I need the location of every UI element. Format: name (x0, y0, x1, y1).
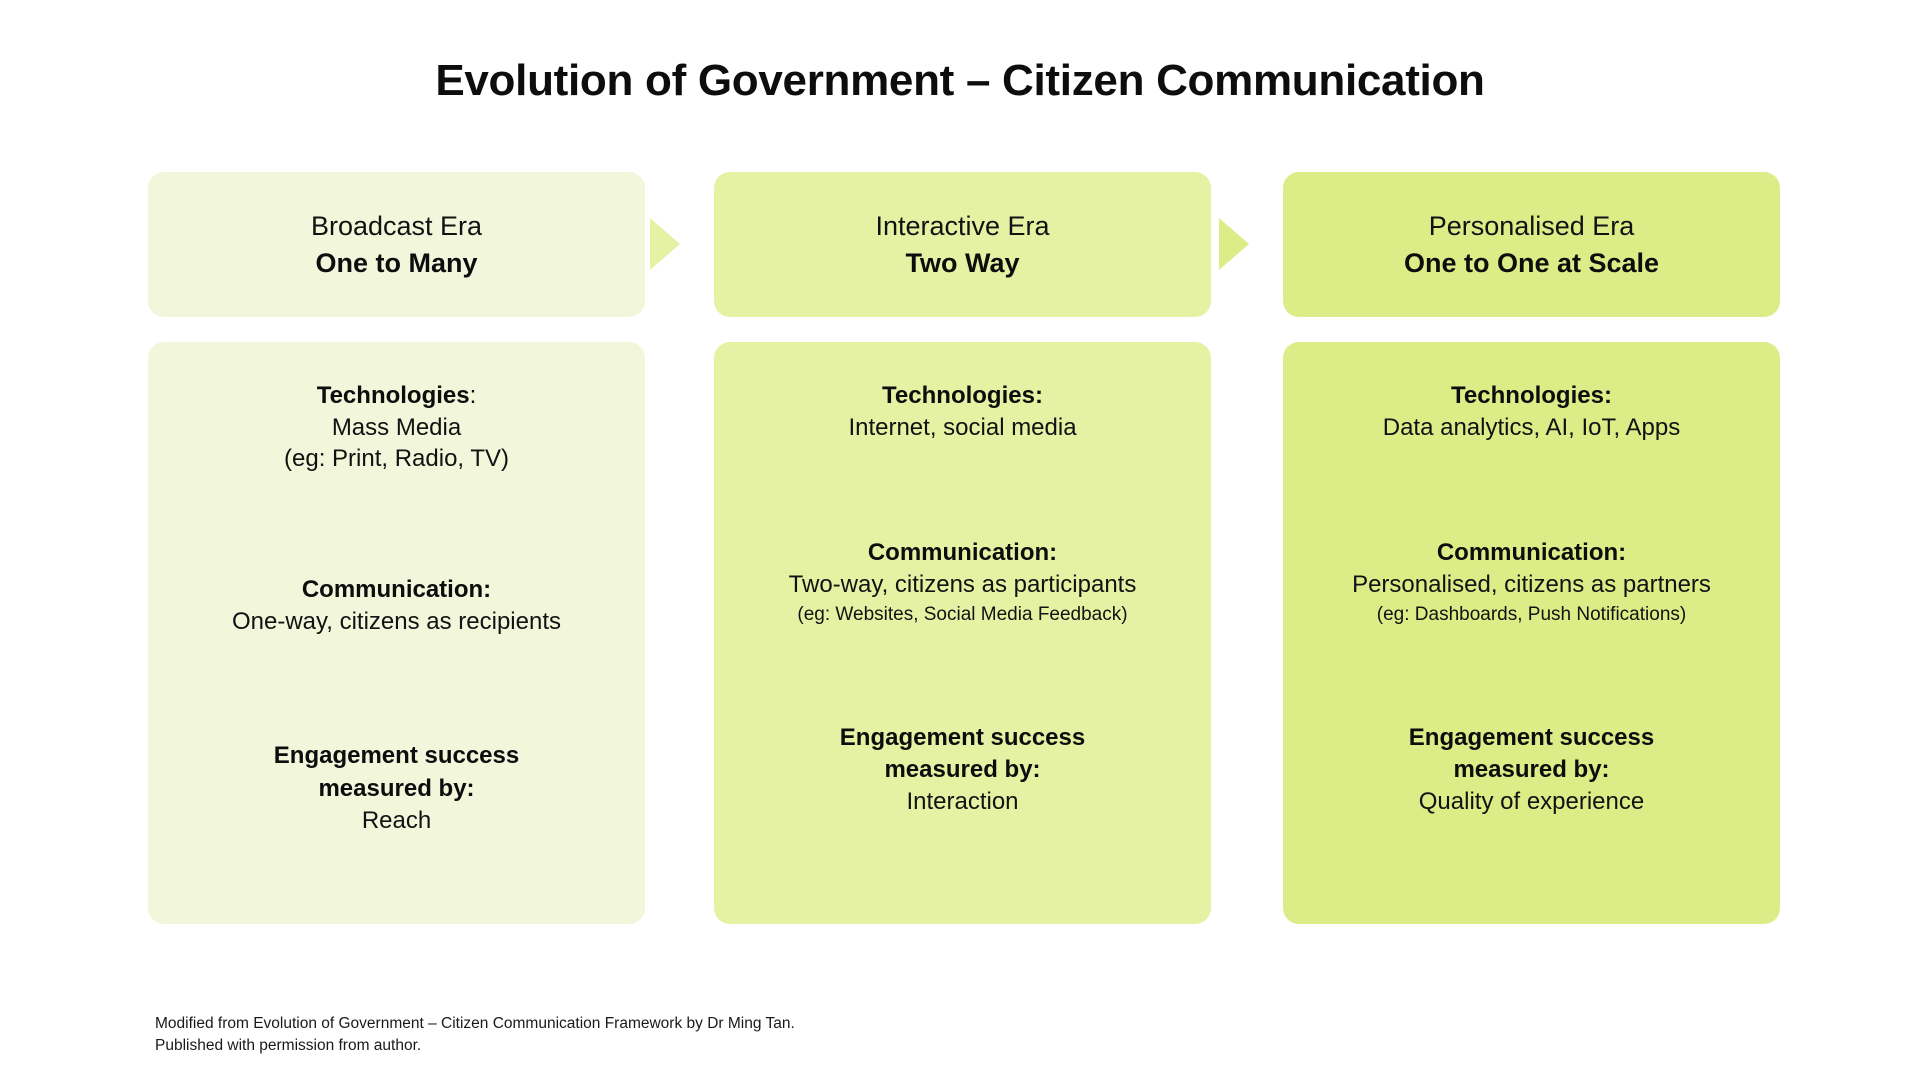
stage-mode-label-3: One to One at Scale (1404, 246, 1659, 281)
engagement-label-line2-1: measured by: (162, 773, 631, 805)
engagement-measure-2: Interaction (728, 786, 1197, 818)
stage-era-label-3: Personalised Era (1429, 209, 1635, 244)
technologies-label-text-3: Technologies (1451, 382, 1604, 409)
technologies-label-text-2: Technologies (882, 382, 1035, 409)
stage-body-card-2[interactable]: Technologies: Internet, social media Com… (714, 342, 1211, 924)
technologies-label-colon-2: : (1035, 382, 1043, 409)
technologies-label-text-1: Technologies (317, 382, 470, 409)
stages-board: Broadcast Era One to Many Technologies: … (148, 172, 1784, 924)
engagement-label-line1-2: Engagement success (728, 722, 1197, 754)
diagram-canvas: Evolution of Government – Citizen Commun… (0, 0, 1920, 1076)
engagement-label-line1-1: Engagement success (162, 740, 631, 772)
stage-header-card-1[interactable]: Broadcast Era One to Many (148, 172, 645, 317)
stage-column-personalised-era: Personalised Era One to One at Scale Tec… (1283, 172, 1780, 924)
communication-value-1: One-way, citizens as recipients (162, 606, 631, 638)
communication-block-1: Communication: One-way, citizens as reci… (162, 574, 631, 637)
technologies-label-1: Technologies: (162, 380, 631, 412)
technologies-value-3: Data analytics, AI, IoT, Apps (1297, 412, 1766, 444)
technologies-example-1: (eg: Print, Radio, TV) (162, 443, 631, 475)
stage-mode-label-1: One to Many (315, 246, 477, 281)
stage-column-broadcast-era: Broadcast Era One to Many Technologies: … (148, 172, 645, 924)
technologies-block-3: Technologies: Data analytics, AI, IoT, A… (1297, 380, 1766, 443)
technologies-value-1: Mass Media (162, 412, 631, 444)
stage-era-label-2: Interactive Era (875, 209, 1049, 244)
communication-block-3: Communication: Personalised, citizens as… (1297, 537, 1766, 626)
stage-body-card-1[interactable]: Technologies: Mass Media (eg: Print, Rad… (148, 342, 645, 924)
attribution-line-1: Modified from Evolution of Government – … (155, 1013, 795, 1035)
arrow-right-icon-stage1-to-stage2 (650, 218, 680, 270)
technologies-label-colon-3: : (1604, 382, 1612, 409)
communication-block-2: Communication: Two-way, citizens as part… (728, 537, 1197, 626)
arrow-right-icon-stage2-to-stage3 (1219, 218, 1249, 270)
engagement-block-3: Engagement success measured by: Quality … (1297, 722, 1766, 818)
engagement-label-line2-3: measured by: (1297, 754, 1766, 786)
engagement-measure-1: Reach (162, 805, 631, 837)
communication-value-3: Personalised, citizens as partners (1297, 569, 1766, 601)
communication-example-3: (eg: Dashboards, Push Notifications) (1297, 602, 1766, 627)
communication-label-2: Communication: (728, 537, 1197, 569)
technologies-value-2: Internet, social media (728, 412, 1197, 444)
engagement-label-line1-3: Engagement success (1297, 722, 1766, 754)
attribution-line-2: Published with permission from author. (155, 1035, 795, 1057)
communication-label-1: Communication: (162, 574, 631, 606)
communication-label-3: Communication: (1297, 537, 1766, 569)
stage-header-card-2[interactable]: Interactive Era Two Way (714, 172, 1211, 317)
technologies-label-colon-1: : (470, 382, 477, 409)
communication-example-2: (eg: Websites, Social Media Feedback) (728, 602, 1197, 627)
engagement-measure-3: Quality of experience (1297, 786, 1766, 818)
technologies-label-2: Technologies: (728, 380, 1197, 412)
stage-body-card-3[interactable]: Technologies: Data analytics, AI, IoT, A… (1283, 342, 1780, 924)
communication-value-2: Two-way, citizens as participants (728, 569, 1197, 601)
engagement-label-line2-2: measured by: (728, 754, 1197, 786)
page-title: Evolution of Government – Citizen Commun… (0, 56, 1920, 107)
stage-column-interactive-era: Interactive Era Two Way Technologies: In… (714, 172, 1211, 924)
stage-era-label-1: Broadcast Era (311, 209, 482, 244)
stage-mode-label-2: Two Way (906, 246, 1020, 281)
technologies-block-1: Technologies: Mass Media (eg: Print, Rad… (162, 380, 631, 475)
engagement-block-2: Engagement success measured by: Interact… (728, 722, 1197, 818)
technologies-label-3: Technologies: (1297, 380, 1766, 412)
technologies-block-2: Technologies: Internet, social media (728, 380, 1197, 443)
engagement-block-1: Engagement success measured by: Reach (162, 740, 631, 836)
attribution-footer: Modified from Evolution of Government – … (155, 1013, 795, 1058)
stage-header-card-3[interactable]: Personalised Era One to One at Scale (1283, 172, 1780, 317)
